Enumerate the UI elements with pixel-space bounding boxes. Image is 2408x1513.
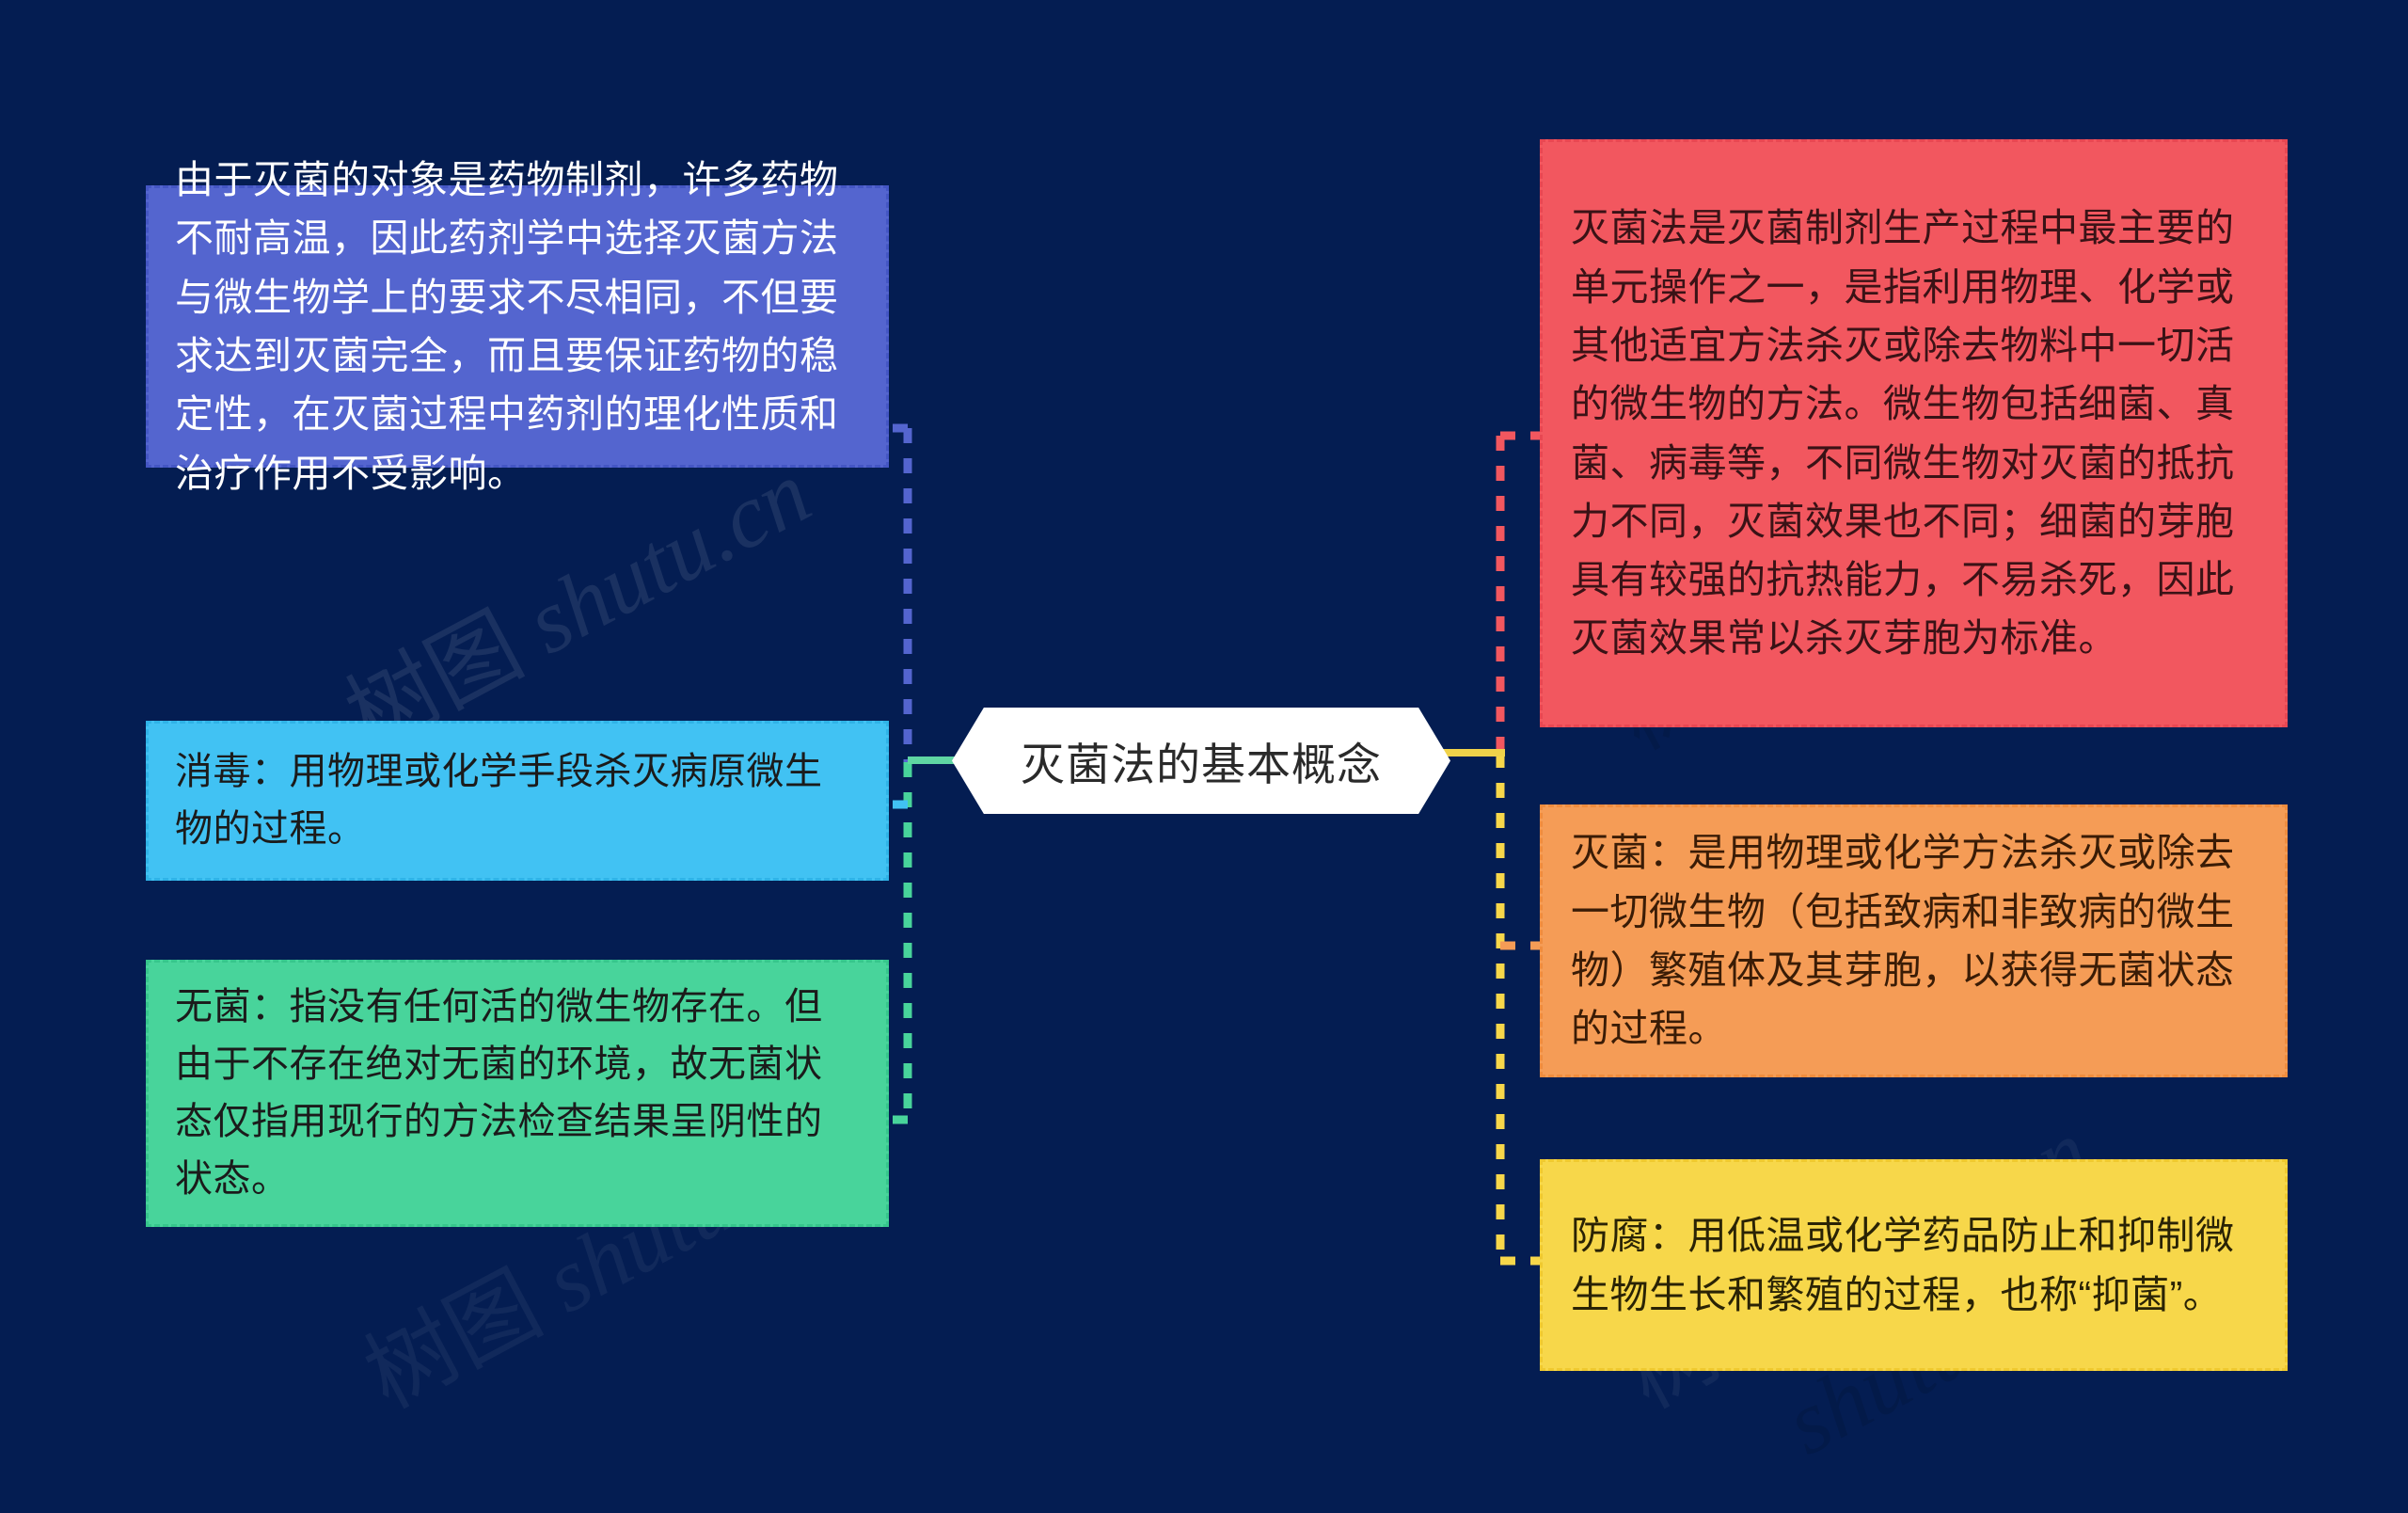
node-yellow-label: 防腐：用低温或化学药品防止和抑制微生物生长和繁殖的过程，也称“抑菌”。 [1571, 1206, 2257, 1324]
node-yellow-antisepsis[interactable]: 防腐：用低温或化学药品防止和抑制微生物生长和繁殖的过程，也称“抑菌”。 [1540, 1159, 2288, 1371]
node-green-label: 无菌：指没有任何活的微生物存在。但由于不存在绝对无菌的环境，故无菌状态仅指用现行… [175, 979, 860, 1207]
node-cyan-label: 消毒：用物理或化学手段杀灭病原微生物的过程。 [175, 743, 860, 858]
node-cyan-disinfection[interactable]: 消毒：用物理或化学手段杀灭病原微生物的过程。 [146, 721, 889, 881]
node-red-sterilization-definition[interactable]: 灭菌法是灭菌制剂生产过程中最主要的单元操作之一，是指利用物理、化学或其他适宜方法… [1540, 139, 2288, 727]
root-node-sterilization-basic-concepts[interactable]: 灭菌法的基本概念 [952, 708, 1450, 814]
node-orange-label: 灭菌：是用物理或化学方法杀灭或除去一切微生物（包括致病和非致病的微生物）繁殖体及… [1571, 823, 2257, 1058]
root-node-label: 灭菌法的基本概念 [1021, 728, 1382, 793]
node-red-label: 灭菌法是灭菌制剂生产过程中最主要的单元操作之一，是指利用物理、化学或其他适宜方法… [1571, 199, 2257, 668]
node-green-asepsis[interactable]: 无菌：指没有任何活的微生物存在。但由于不存在绝对无菌的环境，故无菌状态仅指用现行… [146, 960, 889, 1227]
mindmap-canvas: 树图 shutu.cn 树图 shutu.cn 树图 shutu.cn 树图 s… [0, 0, 2408, 1513]
node-blue-sterilization-context[interactable]: 由于灭菌的对象是药物制剂，许多药物不耐高温，因此药剂学中选择灭菌方法与微生物学上… [146, 185, 889, 468]
watermark-cjk: 树图 [348, 1250, 557, 1428]
node-blue-label: 由于灭菌的对象是药物制剂，许多药物不耐高温，因此药剂学中选择灭菌方法与微生物学上… [175, 151, 860, 502]
node-orange-sterilization[interactable]: 灭菌：是用物理或化学方法杀灭或除去一切微生物（包括致病和非致病的微生物）繁殖体及… [1540, 804, 2288, 1077]
